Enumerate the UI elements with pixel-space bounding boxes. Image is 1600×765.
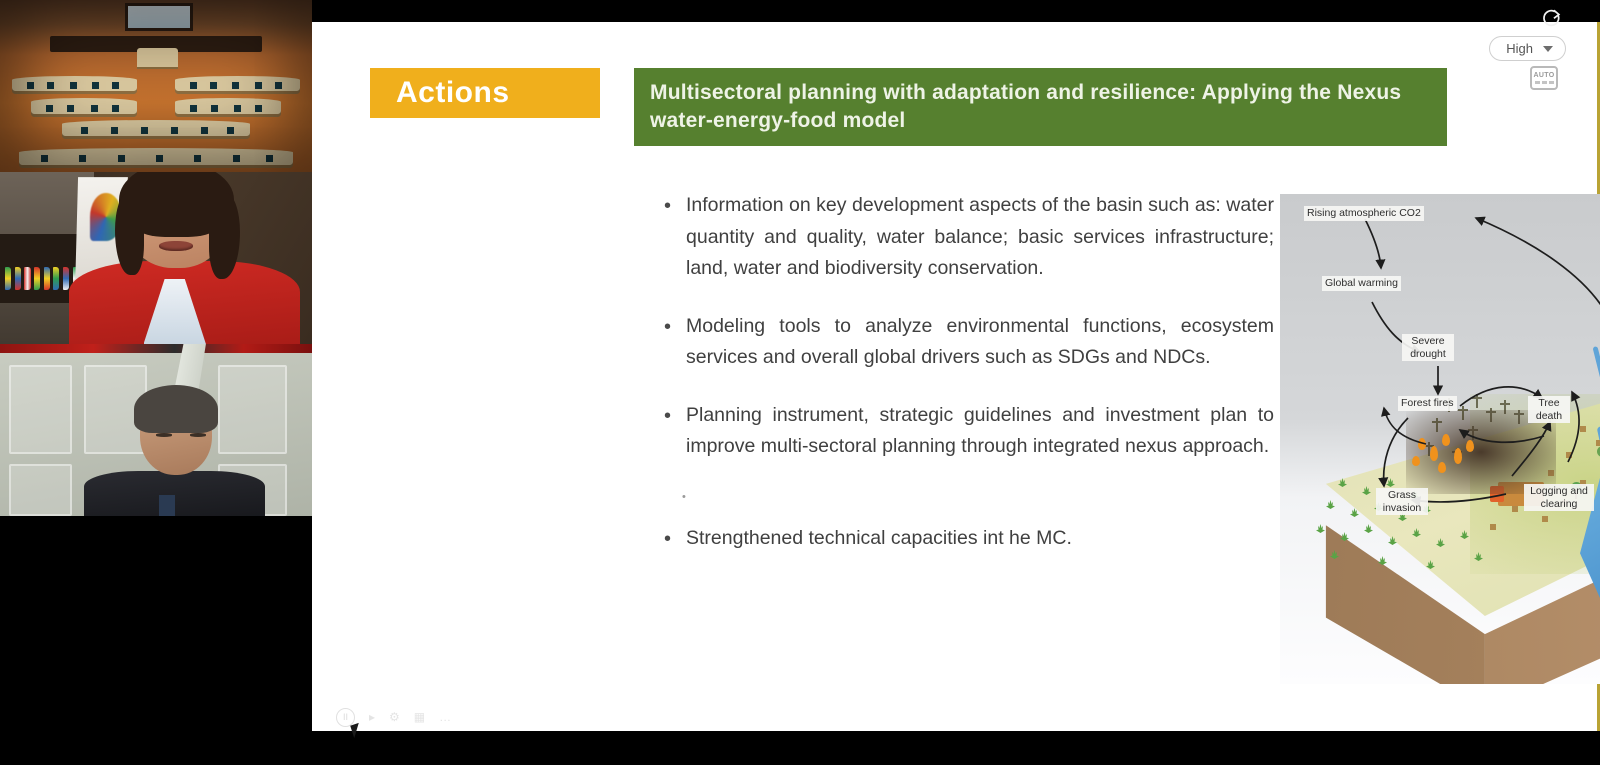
leave-call-icon[interactable] — [1542, 7, 1564, 29]
amazon-deforestation-feedback-loop-diagram: Rising atmospheric CO2 Global warming Se… — [1280, 194, 1600, 684]
vignette — [0, 0, 312, 172]
actions-tag: Actions — [370, 68, 600, 118]
bullet-text — [686, 489, 1274, 507]
speaker-video-active — [0, 172, 312, 344]
speaker-mouth — [159, 241, 193, 251]
attendee-suit — [84, 471, 265, 516]
video-quality-selector[interactable]: High — [1489, 36, 1566, 61]
bullet-marker: • — [664, 311, 686, 374]
bullet-item: • Planning instrument, strategic guideli… — [664, 400, 1274, 463]
label-forest-fires: Forest fires — [1398, 396, 1457, 411]
auto-keyboard-icon — [1535, 81, 1554, 84]
bullet-text: Strengthened technical capacities int he… — [686, 523, 1274, 555]
bullet-item: • Information on key development aspects… — [664, 190, 1274, 285]
grid-layout-icon[interactable]: ▦ — [414, 710, 425, 724]
slide-title-banner: Multisectoral planning with adaptation a… — [634, 68, 1447, 146]
attendee-video — [0, 344, 312, 516]
bullet-text: Modeling tools to analyze environmental … — [686, 311, 1274, 374]
settings-gear-icon[interactable]: ⚙ — [389, 710, 400, 724]
shared-screen-letterbox-bottom — [312, 731, 1600, 765]
presentation-slide: Actions Multisectoral planning with adap… — [312, 22, 1597, 722]
bullet-text: Information on key development aspects o… — [686, 190, 1274, 285]
bullet-marker: • — [664, 190, 686, 285]
attendee-tie — [159, 495, 175, 516]
label-global-warming: Global warming — [1322, 276, 1401, 291]
play-pause-label: II — [343, 712, 348, 722]
bullet-item: • Strengthened technical capacities int … — [664, 523, 1274, 555]
label-tree-death: Tree death — [1528, 396, 1570, 423]
bullet-item-empty: • — [664, 489, 1274, 507]
bullet-text: Planning instrument, strategic guideline… — [686, 400, 1274, 463]
participant-tile-speaker[interactable] — [0, 172, 312, 344]
bullet-marker: • — [664, 489, 686, 507]
label-rising-co2: Rising atmospheric CO2 — [1304, 206, 1424, 221]
label-logging-clearing: Logging and clearing — [1524, 484, 1594, 511]
label-grass-invasion: Grass invasion — [1376, 488, 1428, 515]
assembly-hall-video — [0, 0, 312, 172]
more-options-icon[interactable]: … — [439, 710, 451, 724]
slide-bullet-list: • Information on key development aspects… — [664, 190, 1274, 581]
bullet-item: • Modeling tools to analyze environmenta… — [664, 311, 1274, 374]
video-top-strip — [0, 344, 312, 353]
bullet-marker: • — [664, 400, 686, 463]
slide-header: Actions Multisectoral planning with adap… — [370, 68, 1447, 146]
play-pause-button[interactable]: II — [336, 708, 355, 727]
participant-tile-attendee[interactable] — [0, 344, 312, 516]
chevron-down-icon — [1543, 46, 1553, 52]
actions-tag-label: Actions — [396, 76, 510, 110]
next-button[interactable]: ▸ — [369, 710, 375, 724]
participant-tile-assembly-hall[interactable] — [0, 0, 312, 172]
attendee-hair — [134, 385, 218, 433]
video-quality-value: High — [1506, 41, 1533, 56]
auto-caption-button[interactable]: AUTO — [1530, 66, 1558, 90]
slide-title: Multisectoral planning with adaptation a… — [650, 79, 1429, 135]
participant-video-rail — [0, 0, 312, 765]
video-conference-screen: Actions Multisectoral planning with adap… — [0, 0, 1600, 765]
shared-screen-letterbox-top — [312, 0, 1600, 22]
label-severe-drought: Severe drought — [1402, 334, 1454, 361]
auto-caption-label: AUTO — [1534, 72, 1555, 79]
bullet-marker: • — [664, 523, 686, 555]
